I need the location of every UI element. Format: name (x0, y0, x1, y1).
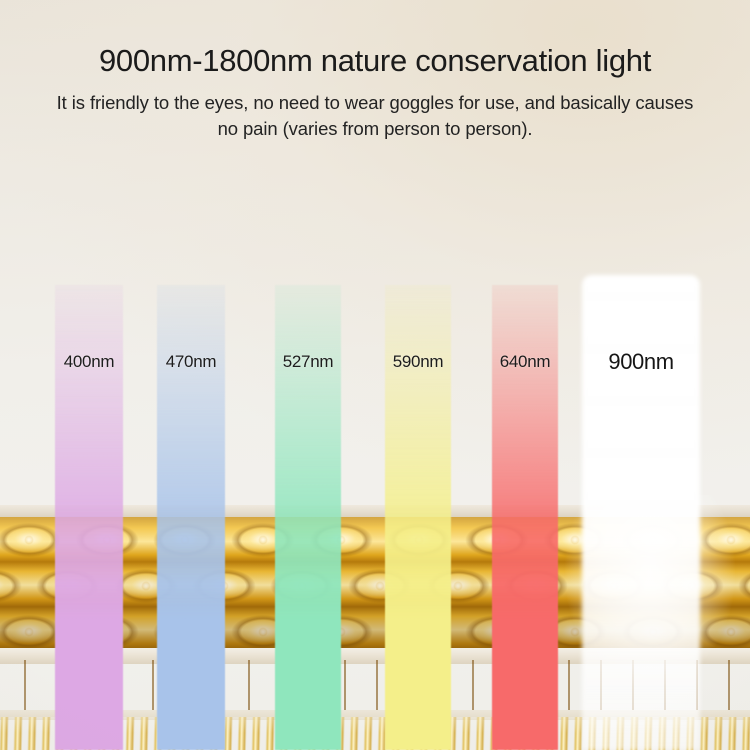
bar-label-400: 400nm (55, 352, 123, 372)
product-feature-image: 900nm-1800nm nature conservation light I… (0, 0, 750, 750)
page-subtitle: It is friendly to the eyes, no need to w… (0, 90, 750, 143)
header: 900nm-1800nm nature conservation light I… (0, 0, 750, 143)
subtitle-line-2: no pain (varies from person to person). (0, 116, 750, 142)
bar-label-527: 527nm (275, 352, 341, 372)
bar-label-640: 640nm (492, 352, 558, 372)
page-title: 900nm-1800nm nature conservation light (0, 44, 750, 78)
subtitle-line-1: It is friendly to the eyes, no need to w… (57, 92, 694, 113)
bar-label-470: 470nm (157, 352, 225, 372)
bar-label-590: 590nm (385, 352, 451, 372)
bar-label-900: 900nm (582, 349, 700, 375)
